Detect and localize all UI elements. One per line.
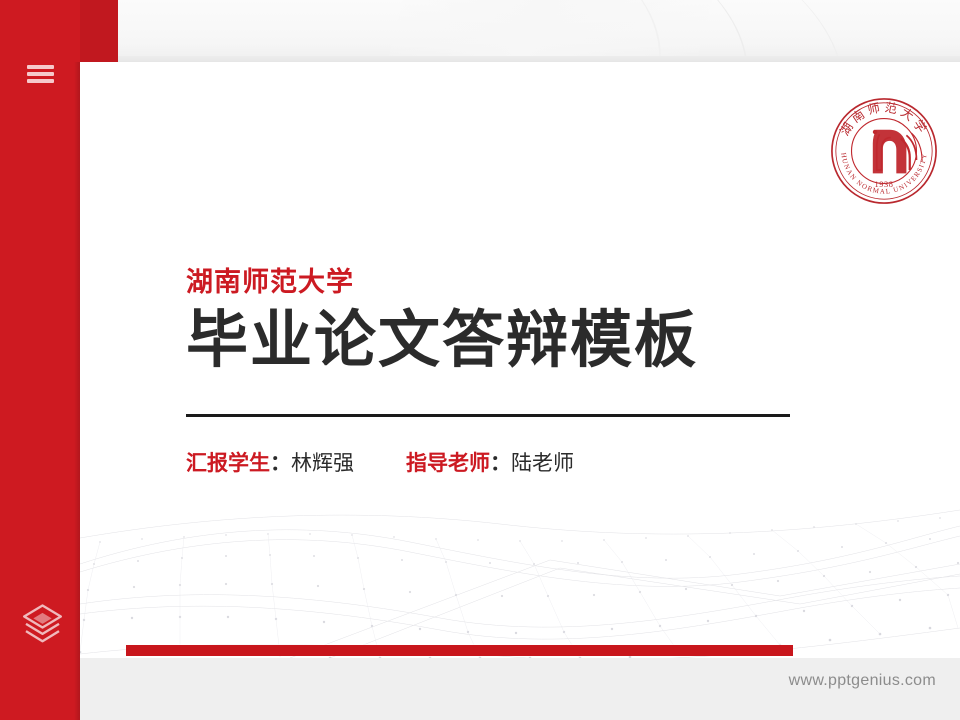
hamburger-menu-icon[interactable]	[27, 62, 54, 86]
top-decorative-strip	[0, 0, 960, 62]
student-label: 汇报学生	[186, 447, 270, 477]
footer-url: www.pptgenius.com	[789, 672, 936, 690]
school-name: 湖南师范大学	[186, 260, 354, 299]
advisor-name: 陆老师	[511, 447, 574, 477]
page-title: 毕业论文答辩模板	[186, 310, 698, 372]
seal-year-text: 1938	[875, 180, 894, 189]
hamburger-bar-3	[27, 79, 54, 83]
university-seal-logo: 湖南师范大学 HUNAN NORMAL UNIVERSITY 1938	[828, 95, 940, 207]
advisor-separator: ：	[490, 447, 511, 477]
advisor-credit: 指导老师 ： 陆老师	[406, 447, 574, 477]
student-separator: ：	[270, 447, 291, 477]
title-divider-rule	[186, 414, 790, 417]
bottom-accent-bar	[126, 645, 793, 656]
student-name: 林辉强	[291, 447, 354, 477]
advisor-label: 指导老师	[406, 447, 490, 477]
sidebar-edge-shadow	[74, 0, 80, 720]
wireframe-mesh-graphic	[80, 468, 960, 658]
slide-canvas: 湖南师范大学 HUNAN NORMAL UNIVERSITY 1938 湖南师范…	[80, 62, 960, 658]
sidebar-top-tab	[0, 0, 118, 62]
credits-line: 汇报学生 ： 林辉强 指导老师 ： 陆老师	[186, 447, 574, 477]
layers-icon-inner-fill	[33, 613, 51, 624]
layers-stack-icon[interactable]	[20, 600, 65, 644]
slide-viewport: www.pptgenius.com	[0, 0, 960, 720]
hamburger-bar-1	[27, 65, 54, 69]
swoosh-curve-4	[603, 0, 960, 62]
hamburger-bar-2	[27, 72, 54, 76]
student-credit: 汇报学生 ： 林辉强	[186, 447, 354, 477]
footer-band: www.pptgenius.com	[80, 658, 960, 720]
sidebar-top-tab-shade	[80, 0, 118, 62]
